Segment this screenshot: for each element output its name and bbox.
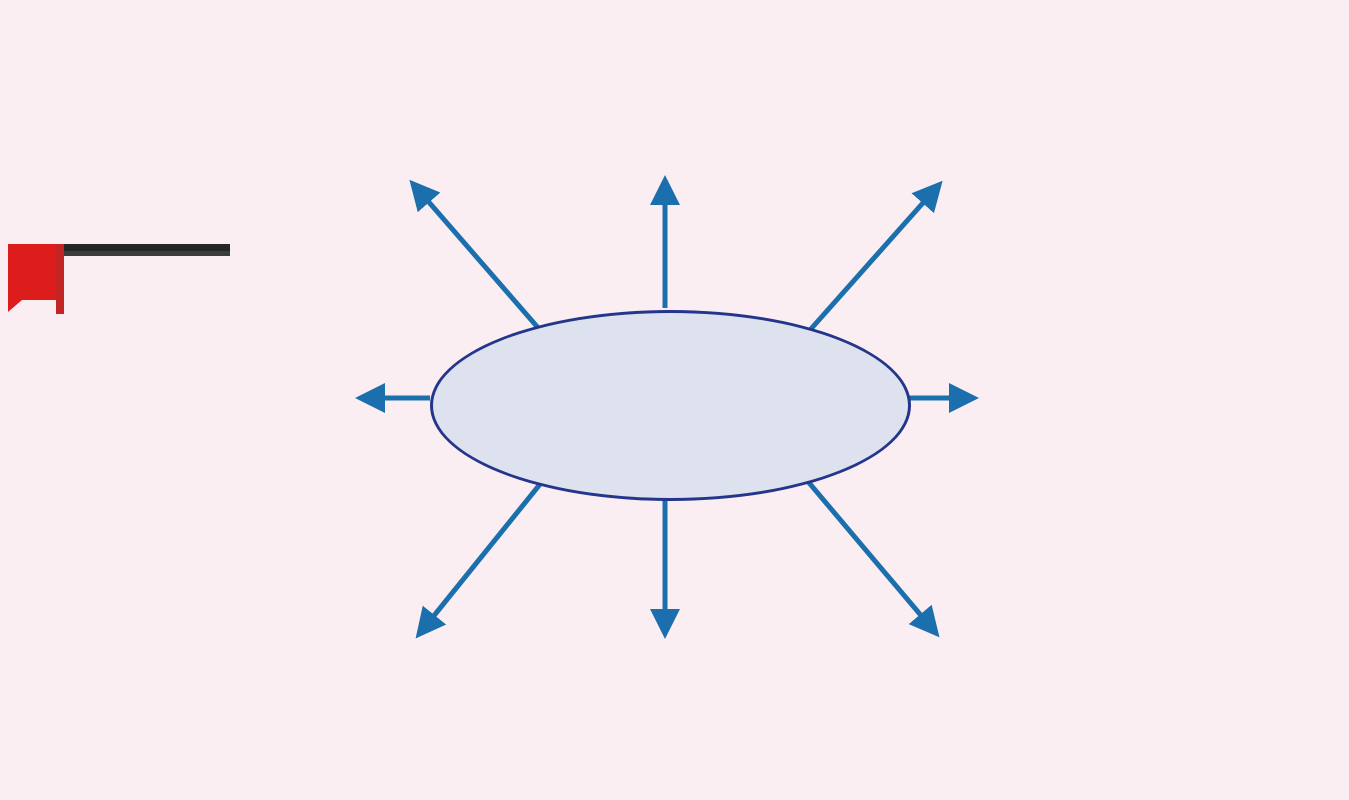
arrow-to-allahin xyxy=(420,478,545,633)
logo-title xyxy=(64,244,230,251)
logo-initial xyxy=(8,244,56,300)
center-node[interactable] xyxy=(430,310,911,501)
logo-accent-bar xyxy=(56,244,64,314)
arrow-to-rabbimizi xyxy=(414,185,540,330)
arrow-to-kutsal xyxy=(805,478,935,632)
diagram-canvas xyxy=(0,0,1349,800)
logo-site xyxy=(64,251,230,256)
channel-logo-badge xyxy=(8,244,230,314)
arrow-to-hayatin xyxy=(810,186,938,330)
